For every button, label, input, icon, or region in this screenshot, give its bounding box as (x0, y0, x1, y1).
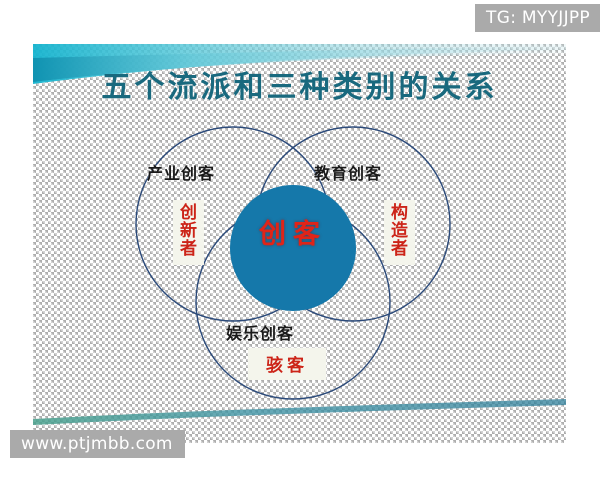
tag-constructor: 构 造 者 (384, 200, 415, 265)
slide-canvas: 五个流派和三种类别的关系 产业创客 教育创客 娱乐创客 创 新 者 构 造 者 … (33, 44, 566, 443)
tag-constructor-char-2: 造 (384, 223, 415, 241)
tag-constructor-char-3: 者 (384, 241, 415, 259)
venn-label-education: 教育创客 (314, 160, 382, 184)
tag-innovator-char-3: 者 (173, 241, 204, 259)
venn-diagram: 产业创客 教育创客 娱乐创客 创 新 者 构 造 者 骇客 创客 (118, 116, 468, 406)
venn-label-industry: 产业创客 (147, 160, 215, 184)
tag-innovator: 创 新 者 (173, 200, 204, 265)
venn-center-label: 创客 (223, 212, 363, 251)
tag-hacker: 骇客 (248, 348, 326, 380)
tag-innovator-char-2: 新 (173, 223, 204, 241)
venn-label-entertainment: 娱乐创客 (226, 320, 294, 344)
page-title: 五个流派和三种类别的关系 (33, 62, 566, 106)
watermark-top: TG: MYYJJPP (475, 4, 600, 32)
watermark-bottom: www.ptjmbb.com (10, 430, 185, 458)
